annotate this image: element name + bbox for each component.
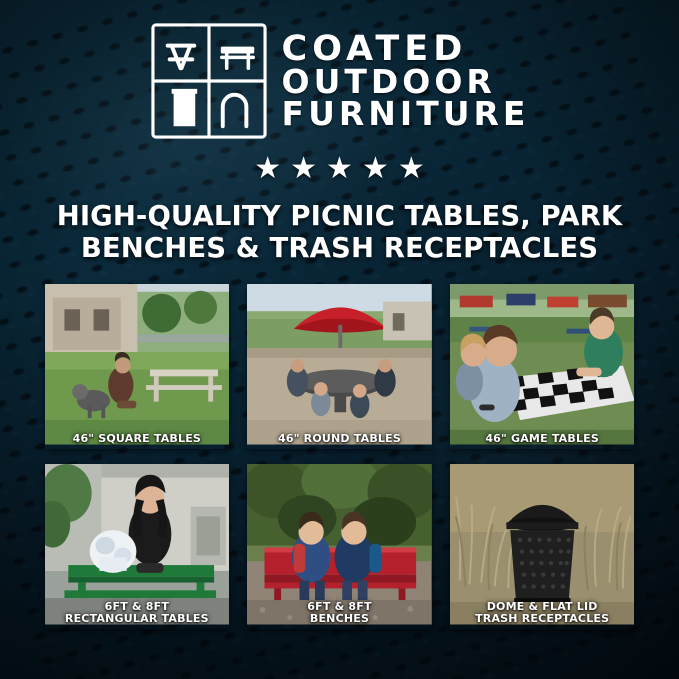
product-caption: 6FT & 8FT BENCHES — [247, 601, 432, 625]
product-caption: 46" ROUND TABLES — [247, 433, 432, 445]
product-tile-trash-receptacles[interactable]: DOME & FLAT LID TRASH RECEPTACLES — [450, 464, 635, 629]
star-icon: ★ — [398, 154, 425, 184]
product-caption: 46" SQUARE TABLES — [45, 433, 230, 445]
logo-word-coated: COATED — [282, 32, 468, 66]
product-tile-square-tables[interactable]: 46" SQUARE TABLES — [45, 284, 230, 449]
product-tile-rectangular-tables[interactable]: 6FT & 8FT RECTANGULAR TABLES — [45, 464, 230, 629]
star-icon: ★ — [290, 154, 317, 184]
headline-line-1: HIGH-QUALITY PICNIC TABLES, PARK — [34, 200, 646, 232]
product-caption: 6FT & 8FT RECTANGULAR TABLES — [45, 601, 230, 625]
product-grid: 46" SQUARE TABLES — [45, 284, 635, 629]
picnic-table-icon — [167, 46, 194, 69]
product-tile-game-tables[interactable]: 46" GAME TABLES — [450, 284, 635, 449]
square-tables-photo — [45, 284, 230, 444]
star-icon: ★ — [254, 154, 281, 184]
star-rating: ★ ★ ★ ★ ★ — [254, 154, 425, 184]
trash-receptacle-icon — [171, 89, 197, 126]
product-tile-benches[interactable]: 6FT & 8FT BENCHES — [247, 464, 432, 629]
star-icon: ★ — [326, 154, 353, 184]
headline-line-2: BENCHES & TRASH RECEPTACLES — [34, 232, 646, 264]
game-tables-photo — [450, 284, 635, 444]
logo-word-furniture: FURNITURE — [282, 98, 530, 130]
logo-mark-icon — [150, 22, 268, 140]
arch-bench-icon — [222, 95, 246, 126]
round-tables-photo — [247, 284, 432, 444]
advertisement-image: COATED OUTDOOR FURNITURE ★ ★ ★ ★ ★ HIGH-… — [0, 0, 679, 679]
product-caption: DOME & FLAT LID TRASH RECEPTACLES — [450, 601, 635, 625]
headline: HIGH-QUALITY PICNIC TABLES, PARK BENCHES… — [34, 200, 646, 264]
star-icon: ★ — [362, 154, 389, 184]
product-caption: 46" GAME TABLES — [450, 433, 635, 445]
product-tile-round-tables[interactable]: 46" ROUND TABLES — [247, 284, 432, 449]
bench-icon — [220, 47, 253, 69]
brand-logo: COATED OUTDOOR FURNITURE — [150, 22, 530, 140]
